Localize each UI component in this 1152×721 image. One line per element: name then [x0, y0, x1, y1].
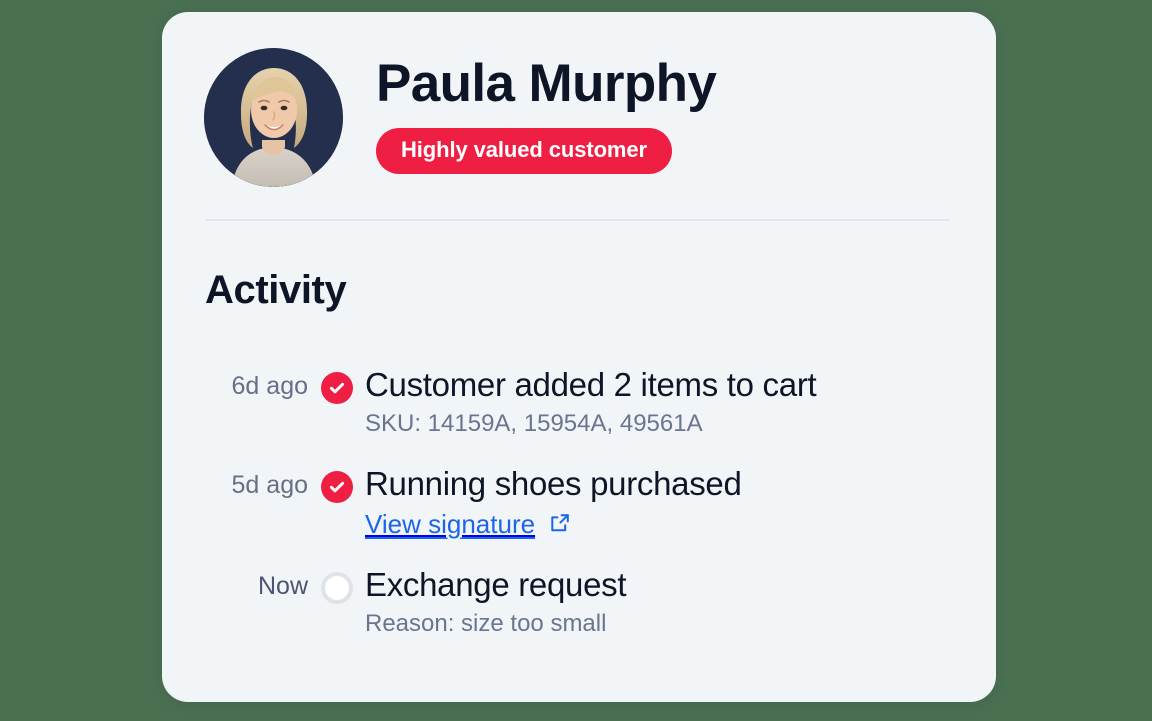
check-circle-filled-icon [321, 471, 353, 503]
identity-block: Paula Murphy Highly valued customer [376, 57, 716, 178]
page-title: Paula Murphy [376, 57, 716, 111]
activity-title: Running shoes purchased [365, 466, 955, 503]
activity-title: Exchange request [365, 567, 955, 604]
activity-section-title: Activity [205, 270, 346, 310]
avatar [204, 48, 343, 187]
circle-outline-icon [321, 572, 353, 604]
activity-title: Customer added 2 items to cart [365, 367, 955, 404]
activity-timestamp: Now [205, 567, 308, 599]
header-divider [205, 219, 950, 221]
screen: Paula Murphy Highly valued customer Acti… [0, 0, 1152, 721]
activity-timestamp: 5d ago [205, 466, 308, 498]
status-badge: Highly valued customer [376, 128, 672, 174]
check-circle-filled-icon [321, 372, 353, 404]
external-link-icon [549, 512, 571, 537]
customer-activity-card: Paula Murphy Highly valued customer Acti… [162, 12, 996, 702]
activity-marker [308, 466, 365, 503]
view-signature-link[interactable]: View signature [365, 510, 571, 540]
activity-timeline: 6d ago Customer added 2 items to cart SK… [205, 367, 955, 638]
activity-subtitle: SKU: 14159A, 15954A, 49561A [365, 410, 955, 438]
activity-marker [308, 367, 365, 404]
activity-timestamp: 6d ago [205, 367, 308, 399]
activity-body: Running shoes purchased View signature [365, 466, 955, 540]
activity-body: Customer added 2 items to cart SKU: 1415… [365, 367, 955, 438]
activity-body: Exchange request Reason: size too small [365, 567, 955, 638]
activity-marker [308, 567, 365, 604]
customer-header: Paula Murphy Highly valued customer [204, 48, 716, 187]
view-signature-label: View signature [365, 510, 535, 540]
activity-item: 5d ago Running shoes purchased View sign… [205, 466, 955, 540]
activity-item: Now Exchange request Reason: size too sm… [205, 567, 955, 638]
activity-item: 6d ago Customer added 2 items to cart SK… [205, 367, 955, 438]
activity-subtitle: Reason: size too small [365, 610, 955, 638]
